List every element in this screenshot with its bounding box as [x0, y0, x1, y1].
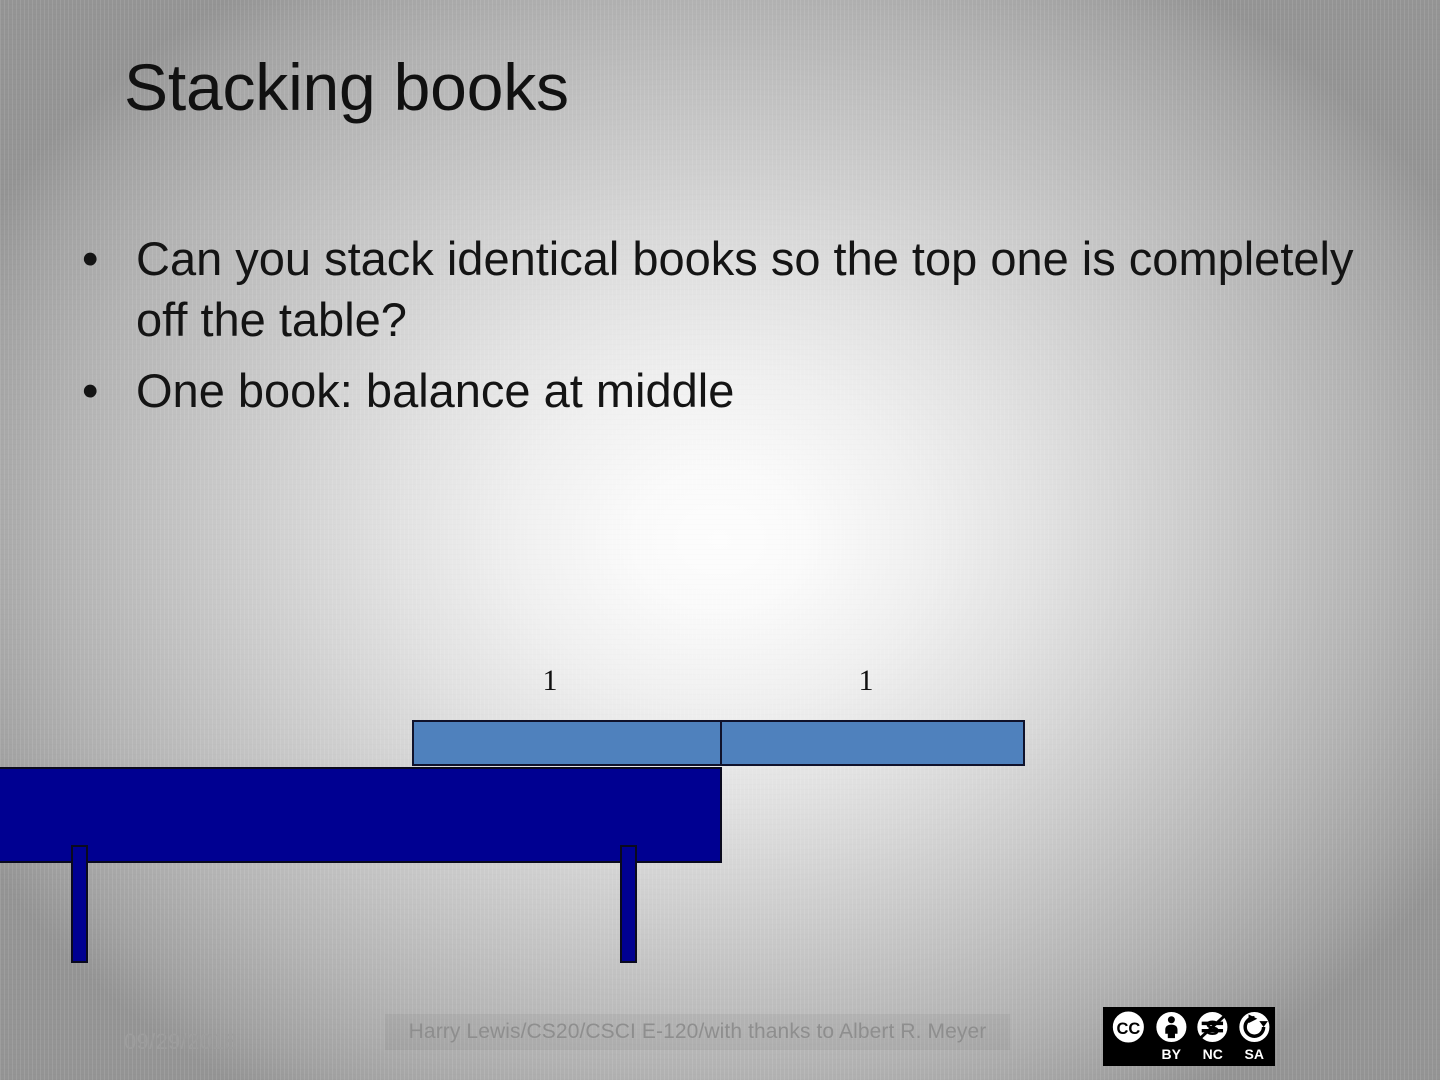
cc-label-sa: SA	[1233, 1047, 1275, 1062]
bullet-list: • Can you stack identical books so the t…	[72, 228, 1372, 431]
slide-title: Stacking books	[124, 52, 569, 123]
bullet-text: Can you stack identical books so the top…	[136, 232, 1353, 346]
cc-label-row: BY NC SA	[1103, 1047, 1275, 1066]
table-top-rectangle	[0, 767, 722, 863]
bullet-marker-icon: •	[82, 360, 98, 421]
list-item: • One book: balance at middle	[72, 360, 1372, 421]
svg-text:CC: CC	[1116, 1020, 1140, 1038]
table-leg-right	[620, 845, 637, 963]
cc-logo-icon: CC	[1107, 1008, 1150, 1046]
cc-nc-noncommercial-icon: S	[1192, 1008, 1233, 1046]
bullet-text: One book: balance at middle	[136, 364, 734, 417]
list-item: • Can you stack identical books so the t…	[72, 228, 1372, 350]
table-leg-left	[71, 845, 88, 963]
stacking-books-diagram: 1 1	[0, 0, 1440, 1080]
book-rectangle	[412, 720, 1025, 766]
book-right-half-length-label: 1	[836, 664, 896, 698]
cc-by-person-icon	[1151, 1008, 1192, 1046]
bullet-marker-icon: •	[82, 228, 98, 289]
slide-date: 09/29/2018	[124, 1029, 237, 1055]
cc-label-by: BY	[1150, 1047, 1192, 1062]
footer-credit-band: Harry Lewis/CS20/CSCI E-120/with thanks …	[385, 1014, 1010, 1050]
presentation-slide: Stacking books • Can you stack identical…	[0, 0, 1440, 1080]
footer-credit-text: Harry Lewis/CS20/CSCI E-120/with thanks …	[385, 1014, 1010, 1050]
cc-icon-row: CC S	[1103, 1007, 1275, 1047]
cc-sa-sharealike-icon	[1234, 1008, 1275, 1046]
book-left-half-length-label: 1	[520, 664, 580, 698]
cc-label-nc: NC	[1192, 1047, 1234, 1062]
book-center-divider	[720, 722, 722, 764]
creative-commons-license-badge[interactable]: CC S	[1103, 1007, 1275, 1066]
background-texture	[0, 0, 1440, 1080]
